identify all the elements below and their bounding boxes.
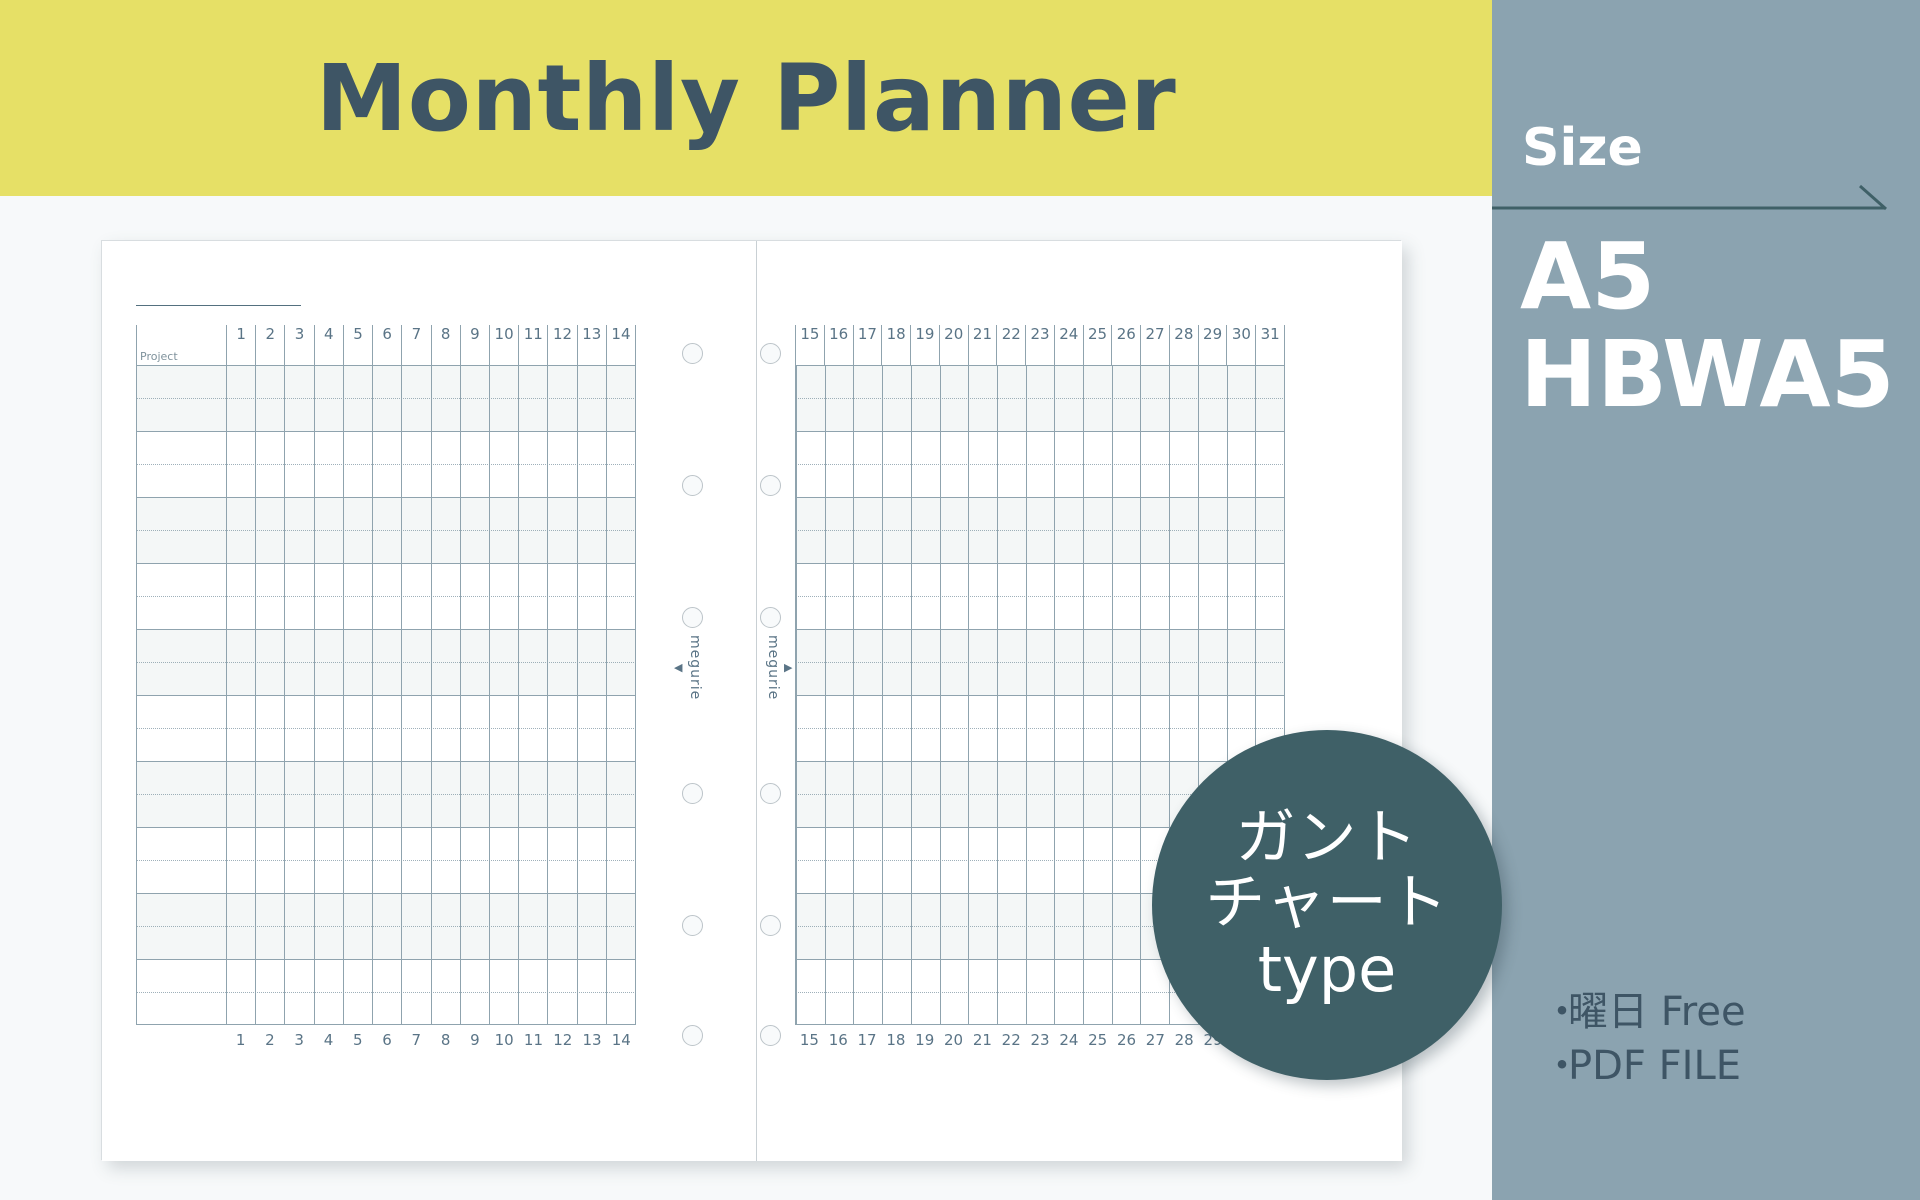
gantt-cell[interactable] (882, 629, 911, 695)
gantt-cell[interactable] (226, 695, 255, 761)
gantt-cell[interactable] (547, 695, 576, 761)
gantt-cell[interactable] (1026, 695, 1055, 761)
gantt-cell[interactable] (431, 629, 460, 695)
gantt-cell[interactable] (226, 365, 255, 431)
gantt-cell[interactable] (1054, 695, 1083, 761)
gantt-cell[interactable] (940, 431, 969, 497)
gantt-row[interactable] (136, 893, 636, 959)
gantt-cell[interactable] (825, 563, 854, 629)
gantt-cell[interactable] (401, 497, 430, 563)
gantt-cell[interactable] (940, 365, 969, 431)
gantt-cell[interactable] (1112, 761, 1141, 827)
gantt-cell[interactable] (796, 497, 825, 563)
gantt-cell[interactable] (1255, 563, 1285, 629)
gantt-row[interactable] (136, 761, 636, 827)
gantt-cell[interactable] (518, 629, 547, 695)
gantt-cell[interactable] (547, 563, 576, 629)
gantt-cell[interactable] (1227, 563, 1256, 629)
gantt-cell[interactable] (882, 959, 911, 1025)
gantt-cell[interactable] (968, 365, 997, 431)
gantt-cell[interactable] (431, 959, 460, 1025)
gantt-cell[interactable] (853, 629, 882, 695)
gantt-cell[interactable] (547, 629, 576, 695)
gantt-cell[interactable] (284, 893, 313, 959)
gantt-cell[interactable] (401, 695, 430, 761)
gantt-cell[interactable] (606, 761, 636, 827)
gantt-cell[interactable] (1140, 563, 1169, 629)
gantt-cell[interactable] (577, 761, 606, 827)
gantt-cell[interactable] (372, 827, 401, 893)
gantt-cell[interactable] (853, 761, 882, 827)
gantt-cell[interactable] (489, 959, 518, 1025)
gantt-cell[interactable] (1054, 827, 1083, 893)
gantt-cell[interactable] (1026, 365, 1055, 431)
gantt-cell[interactable] (1026, 761, 1055, 827)
gantt-cell[interactable] (796, 959, 825, 1025)
gantt-cell[interactable] (577, 959, 606, 1025)
gantt-cell[interactable] (1112, 629, 1141, 695)
gantt-cell[interactable] (1227, 431, 1256, 497)
gantt-cell[interactable] (314, 893, 343, 959)
gantt-cell[interactable] (796, 827, 825, 893)
gantt-cell[interactable] (940, 893, 969, 959)
gantt-cell[interactable] (1026, 629, 1055, 695)
gantt-cell[interactable] (255, 695, 284, 761)
gantt-cell[interactable] (1169, 497, 1198, 563)
gantt-cell[interactable] (825, 695, 854, 761)
gantt-cell[interactable] (255, 761, 284, 827)
gantt-cell[interactable] (1083, 563, 1112, 629)
gantt-cell[interactable] (431, 563, 460, 629)
gantt-cell[interactable] (1054, 365, 1083, 431)
gantt-cell[interactable] (1169, 629, 1198, 695)
gantt-cell[interactable] (284, 827, 313, 893)
gantt-cell[interactable] (489, 893, 518, 959)
gantt-cell[interactable] (1054, 629, 1083, 695)
gantt-cell[interactable] (1140, 431, 1169, 497)
gantt-cell[interactable] (489, 365, 518, 431)
gantt-cell[interactable] (1083, 431, 1112, 497)
gantt-cell[interactable] (460, 695, 489, 761)
gantt-cell[interactable] (284, 761, 313, 827)
gantt-cell[interactable] (460, 629, 489, 695)
gantt-cell[interactable] (1083, 893, 1112, 959)
gantt-cell[interactable] (489, 497, 518, 563)
gantt-row[interactable] (136, 629, 636, 695)
gantt-cell[interactable] (460, 365, 489, 431)
gantt-cell[interactable] (911, 761, 940, 827)
gantt-cell[interactable] (1169, 695, 1198, 761)
gantt-cell[interactable] (606, 959, 636, 1025)
gantt-cell[interactable] (401, 629, 430, 695)
gantt-cell[interactable] (314, 827, 343, 893)
gantt-cell[interactable] (1255, 629, 1285, 695)
gantt-cell[interactable] (372, 497, 401, 563)
gantt-cell[interactable] (796, 431, 825, 497)
gantt-cell[interactable] (1026, 827, 1055, 893)
gantt-cell[interactable] (882, 431, 911, 497)
gantt-cell[interactable] (997, 695, 1026, 761)
gantt-cell[interactable] (940, 695, 969, 761)
gantt-cell[interactable] (1140, 629, 1169, 695)
gantt-cell[interactable] (401, 959, 430, 1025)
gantt-cell[interactable] (997, 563, 1026, 629)
gantt-cell[interactable] (1083, 629, 1112, 695)
gantt-cell[interactable] (547, 365, 576, 431)
gantt-cell[interactable] (284, 959, 313, 1025)
gantt-cell[interactable] (401, 431, 430, 497)
gantt-cell[interactable] (1112, 365, 1141, 431)
gantt-cell[interactable] (1112, 563, 1141, 629)
gantt-cell[interactable] (911, 497, 940, 563)
gantt-cell[interactable] (825, 365, 854, 431)
gantt-cell[interactable] (825, 959, 854, 1025)
gantt-cell[interactable] (968, 695, 997, 761)
gantt-cell[interactable] (226, 893, 255, 959)
gantt-cell[interactable] (940, 497, 969, 563)
gantt-cell[interactable] (372, 629, 401, 695)
gantt-cell[interactable] (518, 695, 547, 761)
gantt-cell[interactable] (577, 695, 606, 761)
gantt-cell[interactable] (997, 629, 1026, 695)
gantt-cell[interactable] (853, 827, 882, 893)
gantt-cell[interactable] (796, 365, 825, 431)
gantt-cell[interactable] (343, 431, 372, 497)
gantt-cell[interactable] (401, 827, 430, 893)
gantt-cell[interactable] (882, 761, 911, 827)
gantt-cell[interactable] (547, 827, 576, 893)
gantt-cell[interactable] (284, 497, 313, 563)
gantt-cell[interactable] (1112, 497, 1141, 563)
gantt-cell[interactable] (1169, 563, 1198, 629)
gantt-cell[interactable] (343, 695, 372, 761)
gantt-cell[interactable] (401, 893, 430, 959)
gantt-cell[interactable] (940, 563, 969, 629)
gantt-cell[interactable] (226, 761, 255, 827)
gantt-cell[interactable] (968, 959, 997, 1025)
gantt-cell[interactable] (1112, 431, 1141, 497)
gantt-cell[interactable] (518, 893, 547, 959)
gantt-cell[interactable] (518, 563, 547, 629)
gantt-cell[interactable] (577, 893, 606, 959)
gantt-cell[interactable] (853, 497, 882, 563)
gantt-cell[interactable] (1083, 827, 1112, 893)
gantt-cell[interactable] (882, 365, 911, 431)
gantt-cell[interactable] (1198, 431, 1227, 497)
gantt-cell[interactable] (343, 827, 372, 893)
gantt-cell[interactable] (255, 629, 284, 695)
gantt-cell[interactable] (284, 629, 313, 695)
gantt-cell[interactable] (940, 959, 969, 1025)
gantt-cell[interactable] (489, 695, 518, 761)
gantt-cell[interactable] (226, 431, 255, 497)
gantt-cell[interactable] (606, 827, 636, 893)
gantt-cell[interactable] (911, 827, 940, 893)
gantt-cell[interactable] (968, 893, 997, 959)
gantt-cell[interactable] (372, 893, 401, 959)
gantt-row[interactable] (136, 431, 636, 497)
gantt-cell[interactable] (226, 497, 255, 563)
gantt-row[interactable] (795, 695, 1285, 761)
gantt-cell[interactable] (226, 959, 255, 1025)
gantt-cell[interactable] (1112, 893, 1141, 959)
gantt-cell[interactable] (997, 761, 1026, 827)
gantt-cell[interactable] (1054, 563, 1083, 629)
gantt-cell[interactable] (1054, 761, 1083, 827)
gantt-cell[interactable] (997, 893, 1026, 959)
gantt-cell[interactable] (911, 629, 940, 695)
gantt-cell[interactable] (226, 629, 255, 695)
gantt-cell[interactable] (489, 827, 518, 893)
gantt-cell[interactable] (911, 431, 940, 497)
gantt-row[interactable] (795, 365, 1285, 431)
gantt-cell[interactable] (606, 497, 636, 563)
gantt-cell[interactable] (489, 563, 518, 629)
gantt-cell[interactable] (796, 893, 825, 959)
gantt-cell[interactable] (518, 497, 547, 563)
gantt-row[interactable] (795, 629, 1285, 695)
gantt-cell[interactable] (255, 365, 284, 431)
gantt-cell[interactable] (284, 365, 313, 431)
gantt-cell[interactable] (577, 431, 606, 497)
gantt-cell[interactable] (460, 431, 489, 497)
gantt-cell[interactable] (489, 431, 518, 497)
gantt-cell[interactable] (255, 431, 284, 497)
gantt-cell[interactable] (577, 563, 606, 629)
gantt-cell[interactable] (460, 827, 489, 893)
gantt-cell[interactable] (853, 365, 882, 431)
gantt-cell[interactable] (1140, 761, 1169, 827)
gantt-cell[interactable] (825, 893, 854, 959)
gantt-cell[interactable] (547, 959, 576, 1025)
gantt-cell[interactable] (911, 365, 940, 431)
gantt-cell[interactable] (577, 827, 606, 893)
gantt-cell[interactable] (1083, 497, 1112, 563)
gantt-cell[interactable] (882, 563, 911, 629)
gantt-row[interactable] (136, 959, 636, 1025)
gantt-cell[interactable] (255, 563, 284, 629)
gantt-cell[interactable] (940, 827, 969, 893)
gantt-cell[interactable] (825, 827, 854, 893)
gantt-cell[interactable] (314, 761, 343, 827)
gantt-cell[interactable] (314, 431, 343, 497)
gantt-cell[interactable] (431, 695, 460, 761)
gantt-cell[interactable] (401, 761, 430, 827)
gantt-cell[interactable] (255, 827, 284, 893)
gantt-cell[interactable] (1083, 761, 1112, 827)
gantt-cell[interactable] (796, 695, 825, 761)
gantt-cell[interactable] (431, 827, 460, 893)
gantt-cell[interactable] (1227, 629, 1256, 695)
gantt-cell[interactable] (431, 497, 460, 563)
gantt-cell[interactable] (997, 431, 1026, 497)
gantt-cell[interactable] (1198, 497, 1227, 563)
gantt-cell[interactable] (372, 761, 401, 827)
gantt-cell[interactable] (911, 695, 940, 761)
gantt-cell[interactable] (606, 695, 636, 761)
gantt-cell[interactable] (547, 431, 576, 497)
gantt-cell[interactable] (431, 431, 460, 497)
gantt-cell[interactable] (314, 497, 343, 563)
gantt-cell[interactable] (343, 497, 372, 563)
gantt-cell[interactable] (853, 695, 882, 761)
gantt-cell[interactable] (1054, 959, 1083, 1025)
gantt-cell[interactable] (401, 365, 430, 431)
gantt-cell[interactable] (547, 761, 576, 827)
gantt-cell[interactable] (796, 761, 825, 827)
gantt-cell[interactable] (606, 563, 636, 629)
gantt-cell[interactable] (1083, 365, 1112, 431)
gantt-cell[interactable] (1169, 431, 1198, 497)
gantt-cell[interactable] (547, 497, 576, 563)
gantt-cell[interactable] (997, 827, 1026, 893)
gantt-row[interactable] (795, 563, 1285, 629)
gantt-cell[interactable] (226, 563, 255, 629)
gantt-cell[interactable] (460, 893, 489, 959)
gantt-cell[interactable] (1198, 695, 1227, 761)
gantt-cell[interactable] (431, 365, 460, 431)
gantt-row[interactable] (136, 563, 636, 629)
gantt-cell[interactable] (577, 365, 606, 431)
gantt-cell[interactable] (547, 893, 576, 959)
gantt-cell[interactable] (968, 629, 997, 695)
gantt-cell[interactable] (460, 761, 489, 827)
gantt-cell[interactable] (577, 497, 606, 563)
gantt-row[interactable] (136, 497, 636, 563)
gantt-cell[interactable] (372, 431, 401, 497)
gantt-cell[interactable] (825, 497, 854, 563)
gantt-cell[interactable] (1083, 959, 1112, 1025)
gantt-cell[interactable] (255, 893, 284, 959)
gantt-cell[interactable] (1140, 497, 1169, 563)
gantt-cell[interactable] (343, 563, 372, 629)
gantt-cell[interactable] (1026, 431, 1055, 497)
gantt-cell[interactable] (518, 827, 547, 893)
gantt-row[interactable] (795, 497, 1285, 563)
gantt-cell[interactable] (284, 563, 313, 629)
gantt-cell[interactable] (853, 563, 882, 629)
gantt-cell[interactable] (343, 959, 372, 1025)
gantt-cell[interactable] (1083, 695, 1112, 761)
gantt-cell[interactable] (314, 959, 343, 1025)
gantt-cell[interactable] (284, 431, 313, 497)
gantt-cell[interactable] (1026, 893, 1055, 959)
gantt-cell[interactable] (1140, 365, 1169, 431)
gantt-cell[interactable] (1140, 695, 1169, 761)
gantt-cell[interactable] (343, 893, 372, 959)
gantt-cell[interactable] (460, 563, 489, 629)
gantt-cell[interactable] (606, 893, 636, 959)
gantt-cell[interactable] (314, 629, 343, 695)
gantt-cell[interactable] (1112, 959, 1141, 1025)
gantt-cell[interactable] (401, 563, 430, 629)
gantt-cell[interactable] (1054, 497, 1083, 563)
gantt-cell[interactable] (489, 629, 518, 695)
gantt-cell[interactable] (968, 431, 997, 497)
gantt-cell[interactable] (825, 761, 854, 827)
gantt-cell[interactable] (882, 695, 911, 761)
gantt-row[interactable] (136, 365, 636, 431)
gantt-cell[interactable] (372, 959, 401, 1025)
gantt-cell[interactable] (968, 761, 997, 827)
gantt-cell[interactable] (1227, 497, 1256, 563)
gantt-cell[interactable] (911, 959, 940, 1025)
gantt-cell[interactable] (997, 365, 1026, 431)
gantt-cell[interactable] (911, 563, 940, 629)
gantt-cell[interactable] (1054, 893, 1083, 959)
gantt-cell[interactable] (796, 563, 825, 629)
gantt-cell[interactable] (1169, 365, 1198, 431)
gantt-cell[interactable] (255, 497, 284, 563)
gantt-cell[interactable] (911, 893, 940, 959)
gantt-cell[interactable] (882, 893, 911, 959)
gantt-cell[interactable] (968, 563, 997, 629)
gantt-cell[interactable] (431, 893, 460, 959)
gantt-cell[interactable] (343, 365, 372, 431)
gantt-cell[interactable] (1255, 431, 1285, 497)
gantt-cell[interactable] (606, 629, 636, 695)
gantt-cell[interactable] (284, 695, 313, 761)
gantt-cell[interactable] (1255, 497, 1285, 563)
gantt-cell[interactable] (853, 431, 882, 497)
gantt-cell[interactable] (518, 959, 547, 1025)
gantt-cell[interactable] (343, 761, 372, 827)
gantt-row[interactable] (136, 695, 636, 761)
gantt-cell[interactable] (577, 629, 606, 695)
gantt-cell[interactable] (997, 959, 1026, 1025)
gantt-cell[interactable] (255, 959, 284, 1025)
gantt-cell[interactable] (314, 563, 343, 629)
gantt-cell[interactable] (1026, 563, 1055, 629)
gantt-cell[interactable] (489, 761, 518, 827)
gantt-cell[interactable] (1054, 431, 1083, 497)
gantt-row[interactable] (136, 827, 636, 893)
gantt-cell[interactable] (882, 827, 911, 893)
gantt-cell[interactable] (460, 497, 489, 563)
gantt-cell[interactable] (1112, 827, 1141, 893)
gantt-cell[interactable] (518, 365, 547, 431)
gantt-cell[interactable] (825, 629, 854, 695)
gantt-cell[interactable] (314, 365, 343, 431)
gantt-cell[interactable] (372, 365, 401, 431)
gantt-cell[interactable] (997, 497, 1026, 563)
gantt-cell[interactable] (1227, 365, 1256, 431)
gantt-cell[interactable] (796, 629, 825, 695)
gantt-cell[interactable] (1198, 563, 1227, 629)
gantt-cell[interactable] (940, 761, 969, 827)
gantt-row[interactable] (795, 431, 1285, 497)
gantt-cell[interactable] (606, 365, 636, 431)
gantt-cell[interactable] (431, 761, 460, 827)
gantt-cell[interactable] (1198, 629, 1227, 695)
gantt-cell[interactable] (882, 497, 911, 563)
gantt-cell[interactable] (1026, 959, 1055, 1025)
gantt-cell[interactable] (518, 761, 547, 827)
gantt-cell[interactable] (314, 695, 343, 761)
gantt-cell[interactable] (372, 563, 401, 629)
gantt-cell[interactable] (1255, 365, 1285, 431)
gantt-cell[interactable] (1026, 497, 1055, 563)
gantt-cell[interactable] (343, 629, 372, 695)
gantt-cell[interactable] (968, 827, 997, 893)
gantt-cell[interactable] (226, 827, 255, 893)
gantt-cell[interactable] (853, 959, 882, 1025)
gantt-cell[interactable] (372, 695, 401, 761)
gantt-cell[interactable] (940, 629, 969, 695)
gantt-cell[interactable] (1198, 365, 1227, 431)
gantt-cell[interactable] (1112, 695, 1141, 761)
gantt-cell[interactable] (460, 959, 489, 1025)
